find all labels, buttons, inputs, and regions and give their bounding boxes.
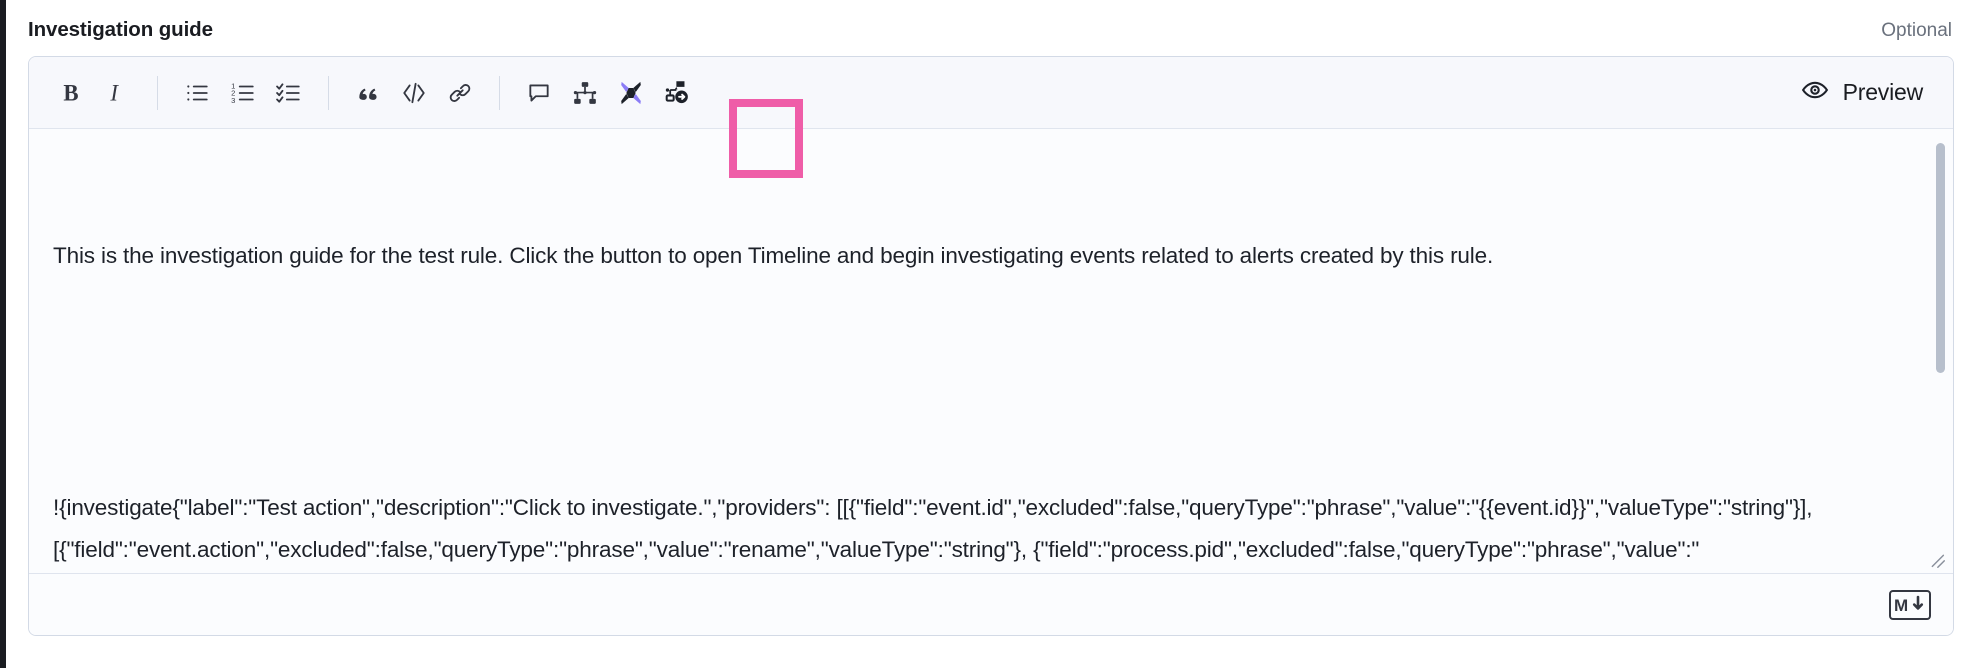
code-button[interactable] <box>391 70 437 116</box>
task-list-button[interactable] <box>266 70 312 116</box>
toolbar-divider <box>499 76 500 110</box>
link-icon <box>447 80 473 106</box>
bulleted-list-button[interactable] <box>174 70 220 116</box>
preview-label: Preview <box>1843 79 1923 106</box>
numbered-list-icon: 1 2 3 <box>230 80 256 106</box>
italic-icon: I <box>105 80 131 106</box>
osquery-icon <box>617 79 645 107</box>
resize-handle-icon[interactable] <box>1925 548 1947 570</box>
quote-icon <box>355 80 381 106</box>
svg-text:M: M <box>1894 596 1908 615</box>
toolbar-group-security <box>516 70 700 116</box>
svg-text:B: B <box>63 80 78 105</box>
timeline-button[interactable] <box>562 70 608 116</box>
editor-toolbar: B I <box>29 57 1953 129</box>
guide-paragraph-investigate-syntax: !{investigate{"label":"Test action","des… <box>53 487 1883 574</box>
comment-icon <box>526 80 552 106</box>
editor-scrollbar-thumb[interactable] <box>1936 143 1945 373</box>
svg-text:3: 3 <box>231 95 235 104</box>
eye-icon <box>1801 76 1829 109</box>
link-button[interactable] <box>437 70 483 116</box>
editor-scrollbar[interactable] <box>1936 143 1945 561</box>
quote-button[interactable] <box>345 70 391 116</box>
page-title: Investigation guide <box>28 18 213 42</box>
code-icon <box>401 80 427 106</box>
comment-button[interactable] <box>516 70 562 116</box>
bold-button[interactable]: B <box>49 70 95 116</box>
investigate-timeline-button[interactable] <box>654 70 700 116</box>
investigate-timeline-icon <box>664 79 691 106</box>
toolbar-divider <box>328 76 329 110</box>
editor-footer: M <box>29 574 1953 636</box>
field-header: Investigation guide Optional <box>6 0 1976 56</box>
toolbar-divider <box>157 76 158 110</box>
body-divider <box>29 573 1953 574</box>
markdown-editor: B I <box>28 56 1954 636</box>
timeline-icon <box>572 80 598 106</box>
guide-paragraph-intro: This is the investigation guide for the … <box>53 235 1883 277</box>
svg-text:I: I <box>109 80 119 105</box>
investigation-guide-field: Investigation guide Optional B I <box>0 0 1976 668</box>
preview-toggle[interactable]: Preview <box>1801 76 1939 109</box>
bulleted-list-icon <box>184 80 210 106</box>
numbered-list-button[interactable]: 1 2 3 <box>220 70 266 116</box>
task-list-icon <box>276 80 302 106</box>
markdown-down-arrow-icon[interactable]: M <box>1889 590 1931 620</box>
markdown-textarea[interactable]: This is the investigation guide for the … <box>29 129 1953 574</box>
bold-icon: B <box>59 80 85 106</box>
toolbar-group-blocks <box>345 70 483 116</box>
italic-button[interactable]: I <box>95 70 141 116</box>
osquery-button[interactable] <box>608 70 654 116</box>
toolbar-group-text-style: B I <box>49 70 141 116</box>
toolbar-group-lists: 1 2 3 <box>174 70 312 116</box>
optional-badge: Optional <box>1881 20 1952 42</box>
